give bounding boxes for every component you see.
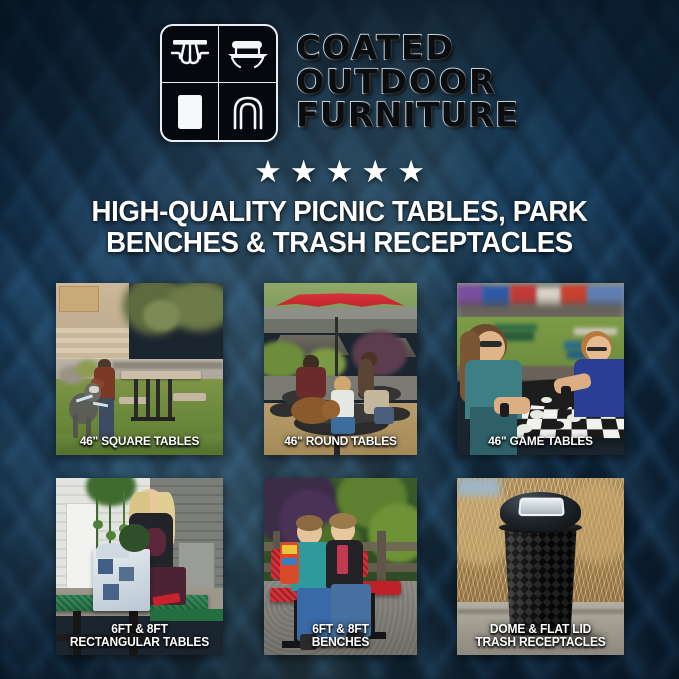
headline-line-1: HIGH-QUALITY PICNIC TABLES, PARK bbox=[35, 197, 643, 228]
product-category-grid: 46" SQUARE TABLES bbox=[56, 283, 624, 655]
tile-caption-line-2: RECTANGULAR TABLES bbox=[63, 636, 216, 650]
product-tile-round-tables[interactable]: 46" ROUND TABLES bbox=[264, 283, 417, 455]
product-tile-rectangular-tables[interactable]: 6FT & 8FT RECTANGULAR TABLES bbox=[56, 478, 223, 655]
headline-line-2: BENCHES & TRASH RECEPTACLES bbox=[35, 228, 643, 259]
headline: HIGH-QUALITY PICNIC TABLES, PARK BENCHES… bbox=[10, 197, 669, 260]
tile-caption-line-1: 6FT & 8FT bbox=[63, 623, 216, 637]
park-bench-icon bbox=[219, 26, 276, 83]
star-rating: ★ ★ ★ ★ ★ bbox=[0, 156, 679, 187]
wordmark-line-1: COATED bbox=[296, 32, 455, 65]
tile-caption-round-tables: 46" ROUND TABLES bbox=[267, 435, 412, 448]
tile-caption-line-2: TRASH RECEPTACLES bbox=[464, 636, 617, 650]
tile-caption-line-1: DOME & FLAT LID bbox=[464, 623, 617, 637]
brand-wordmark: COATED OUTDOOR FURNITURE bbox=[296, 32, 519, 134]
star-icon-2: ★ bbox=[290, 156, 318, 187]
star-icon-3: ★ bbox=[326, 156, 354, 187]
product-tile-benches[interactable]: 6FT & 8FT BENCHES bbox=[264, 478, 417, 655]
product-image-square-tables bbox=[56, 283, 223, 455]
star-icon-5: ★ bbox=[397, 156, 425, 187]
trash-receptacle-icon bbox=[162, 83, 219, 140]
product-image-round-tables bbox=[264, 283, 417, 455]
product-image-game-tables bbox=[457, 283, 624, 455]
star-icon-1: ★ bbox=[254, 156, 282, 187]
product-tile-game-tables[interactable]: 46" GAME TABLES bbox=[457, 283, 624, 455]
tile-caption-trash-receptacles: DOME & FLAT LID TRASH RECEPTACLES bbox=[461, 623, 620, 650]
wordmark-line-2: OUTDOOR bbox=[296, 66, 496, 99]
product-tile-square-tables[interactable]: 46" SQUARE TABLES bbox=[56, 283, 223, 455]
logo-icon-grid bbox=[160, 24, 278, 142]
wordmark-line-3: FURNITURE bbox=[296, 99, 519, 132]
picnic-table-icon bbox=[162, 26, 219, 83]
tile-caption-square-tables: 46" SQUARE TABLES bbox=[60, 435, 219, 448]
tile-caption-line-2: BENCHES bbox=[270, 636, 410, 650]
banner-content: COATED OUTDOOR FURNITURE ★ ★ ★ ★ ★ HIGH-… bbox=[0, 0, 679, 679]
product-tile-trash-receptacles[interactable]: DOME & FLAT LID TRASH RECEPTACLES bbox=[457, 478, 624, 655]
tile-caption-benches: 6FT & 8FT BENCHES bbox=[267, 623, 412, 650]
brand-logo: COATED OUTDOOR FURNITURE bbox=[0, 0, 679, 142]
tile-caption-game-tables: 46" GAME TABLES bbox=[461, 435, 620, 448]
promotional-banner: COATED OUTDOOR FURNITURE ★ ★ ★ ★ ★ HIGH-… bbox=[0, 0, 679, 679]
star-icon-4: ★ bbox=[361, 156, 389, 187]
tile-caption-rectangular-tables: 6FT & 8FT RECTANGULAR TABLES bbox=[60, 623, 219, 650]
tile-caption-line-1: 6FT & 8FT bbox=[270, 623, 410, 637]
bike-rack-icon bbox=[219, 83, 276, 140]
